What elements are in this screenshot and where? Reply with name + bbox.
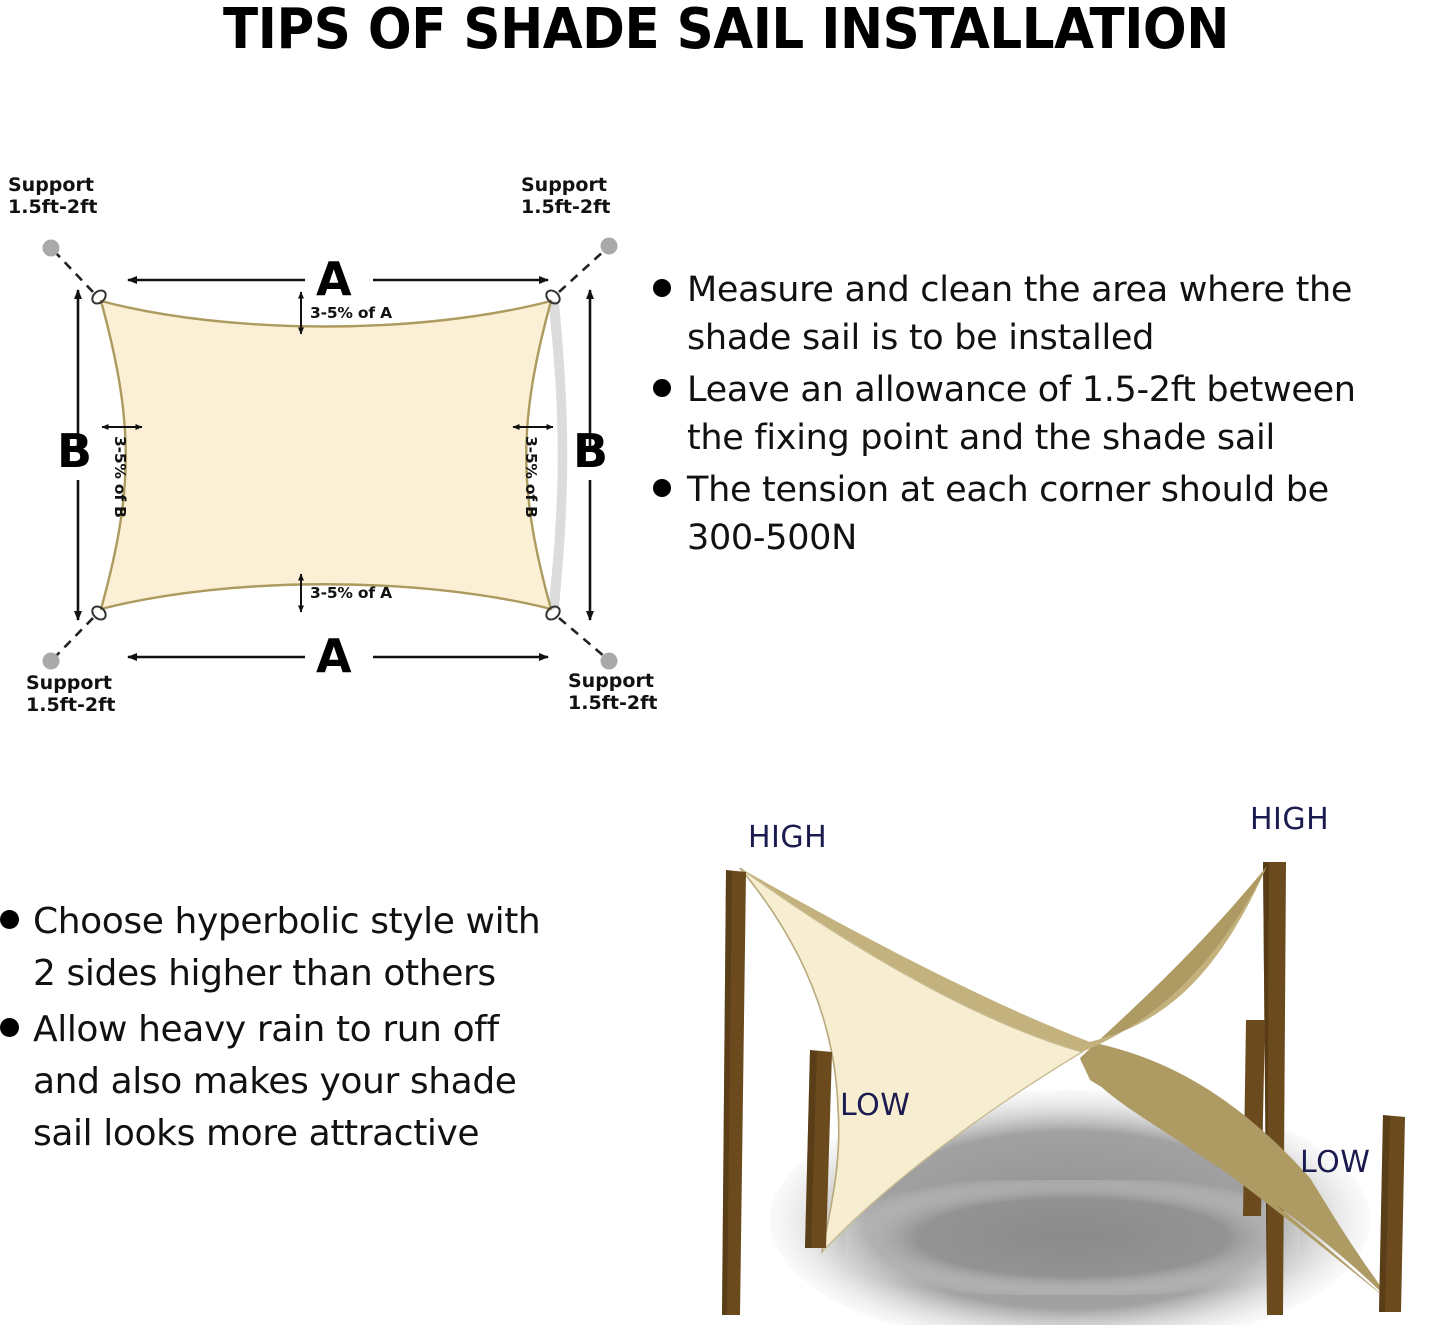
support-title: Support [568, 670, 654, 692]
support-label-top-left: Support 1.5ft-2ft [8, 174, 97, 218]
list-item-line: 300-500N [687, 514, 1329, 562]
label-high-left: HIGH [748, 820, 827, 855]
support-dot-top-right [601, 238, 618, 255]
support-label-bottom-right: Support 1.5ft-2ft [568, 670, 657, 714]
hyperbolic-sail-illustration: HIGH HIGH LOW LOW [650, 790, 1452, 1325]
dimension-letter-b-left: B [57, 428, 92, 474]
support-dot-bottom-left [43, 653, 60, 670]
installation-tips-list: Measure and clean the area where the sha… [653, 266, 1452, 566]
hyperbolic-tips-list: Choose hyperbolic style with 2 sides hig… [0, 896, 640, 1164]
support-label-top-right: Support 1.5ft-2ft [521, 174, 610, 218]
curvature-label-right: 3-5% of B [522, 436, 540, 518]
list-item-line: shade sail is to be installed [687, 314, 1352, 362]
support-dot-bottom-right [601, 653, 618, 670]
label-low-right: LOW [1300, 1145, 1370, 1180]
post-high-left [722, 870, 746, 1315]
dimension-letter-a-top: A [316, 256, 352, 302]
support-title: Support [521, 174, 607, 196]
list-item-line: and also makes your shade [33, 1056, 517, 1108]
list-item-line: the fixing point and the shade sail [687, 414, 1356, 462]
support-label-bottom-left: Support 1.5ft-2ft [26, 672, 115, 716]
page-title: TIPS OF SHADE SAIL INSTALLATION [58, 0, 1394, 62]
sail-body [101, 301, 551, 609]
list-item: Leave an allowance of 1.5-2ft between th… [653, 366, 1452, 462]
list-item-line: sail looks more attractive [33, 1108, 517, 1160]
bullet-dot-icon [0, 910, 19, 929]
bullet-dot-icon [653, 379, 671, 397]
sail-drop-shadow [548, 298, 567, 612]
list-item: Allow heavy rain to run off and also mak… [0, 1004, 640, 1160]
list-item-line: 2 sides higher than others [33, 948, 540, 1000]
ground-shadow-rect [845, 1180, 1300, 1295]
support-distance: 1.5ft-2ft [26, 694, 115, 716]
list-item-line: Choose hyperbolic style with [33, 896, 540, 948]
list-item-text: The tension at each corner should be 300… [687, 466, 1329, 562]
support-distance: 1.5ft-2ft [8, 196, 97, 218]
list-item-line: The tension at each corner should be [687, 466, 1329, 514]
bullet-dot-icon [653, 279, 671, 297]
list-item: The tension at each corner should be 300… [653, 466, 1452, 562]
list-item-text: Choose hyperbolic style with 2 sides hig… [33, 896, 540, 1000]
post-low-right [1379, 1115, 1405, 1312]
support-title: Support [8, 174, 94, 196]
curvature-label-top: 3-5% of A [310, 304, 392, 322]
label-low-front: LOW [840, 1088, 910, 1123]
list-item: Choose hyperbolic style with 2 sides hig… [0, 896, 640, 1000]
curvature-label-left: 3-5% of B [111, 436, 129, 518]
list-item: Measure and clean the area where the sha… [653, 266, 1452, 362]
list-item-text: Allow heavy rain to run off and also mak… [33, 1004, 517, 1160]
list-item-line: Allow heavy rain to run off [33, 1004, 517, 1056]
curvature-label-bottom: 3-5% of A [310, 584, 392, 602]
support-distance: 1.5ft-2ft [568, 692, 657, 714]
support-dot-top-left [43, 240, 60, 257]
post-high-right [1263, 862, 1286, 1315]
dimension-letter-b-right: B [573, 428, 608, 474]
dimension-letter-a-bottom: A [316, 633, 352, 679]
support-distance: 1.5ft-2ft [521, 196, 610, 218]
list-item-text: Measure and clean the area where the sha… [687, 266, 1352, 362]
rectangular-sail-diagram: Support 1.5ft-2ft Support 1.5ft-2ft Supp… [0, 160, 660, 740]
list-item-line: Leave an allowance of 1.5-2ft between [687, 366, 1356, 414]
label-high-right: HIGH [1250, 802, 1329, 837]
bullet-dot-icon [653, 479, 671, 497]
support-title: Support [26, 672, 112, 694]
bullet-dot-icon [0, 1018, 19, 1037]
list-item-line: Measure and clean the area where the [687, 266, 1352, 314]
list-item-text: Leave an allowance of 1.5-2ft between th… [687, 366, 1356, 462]
